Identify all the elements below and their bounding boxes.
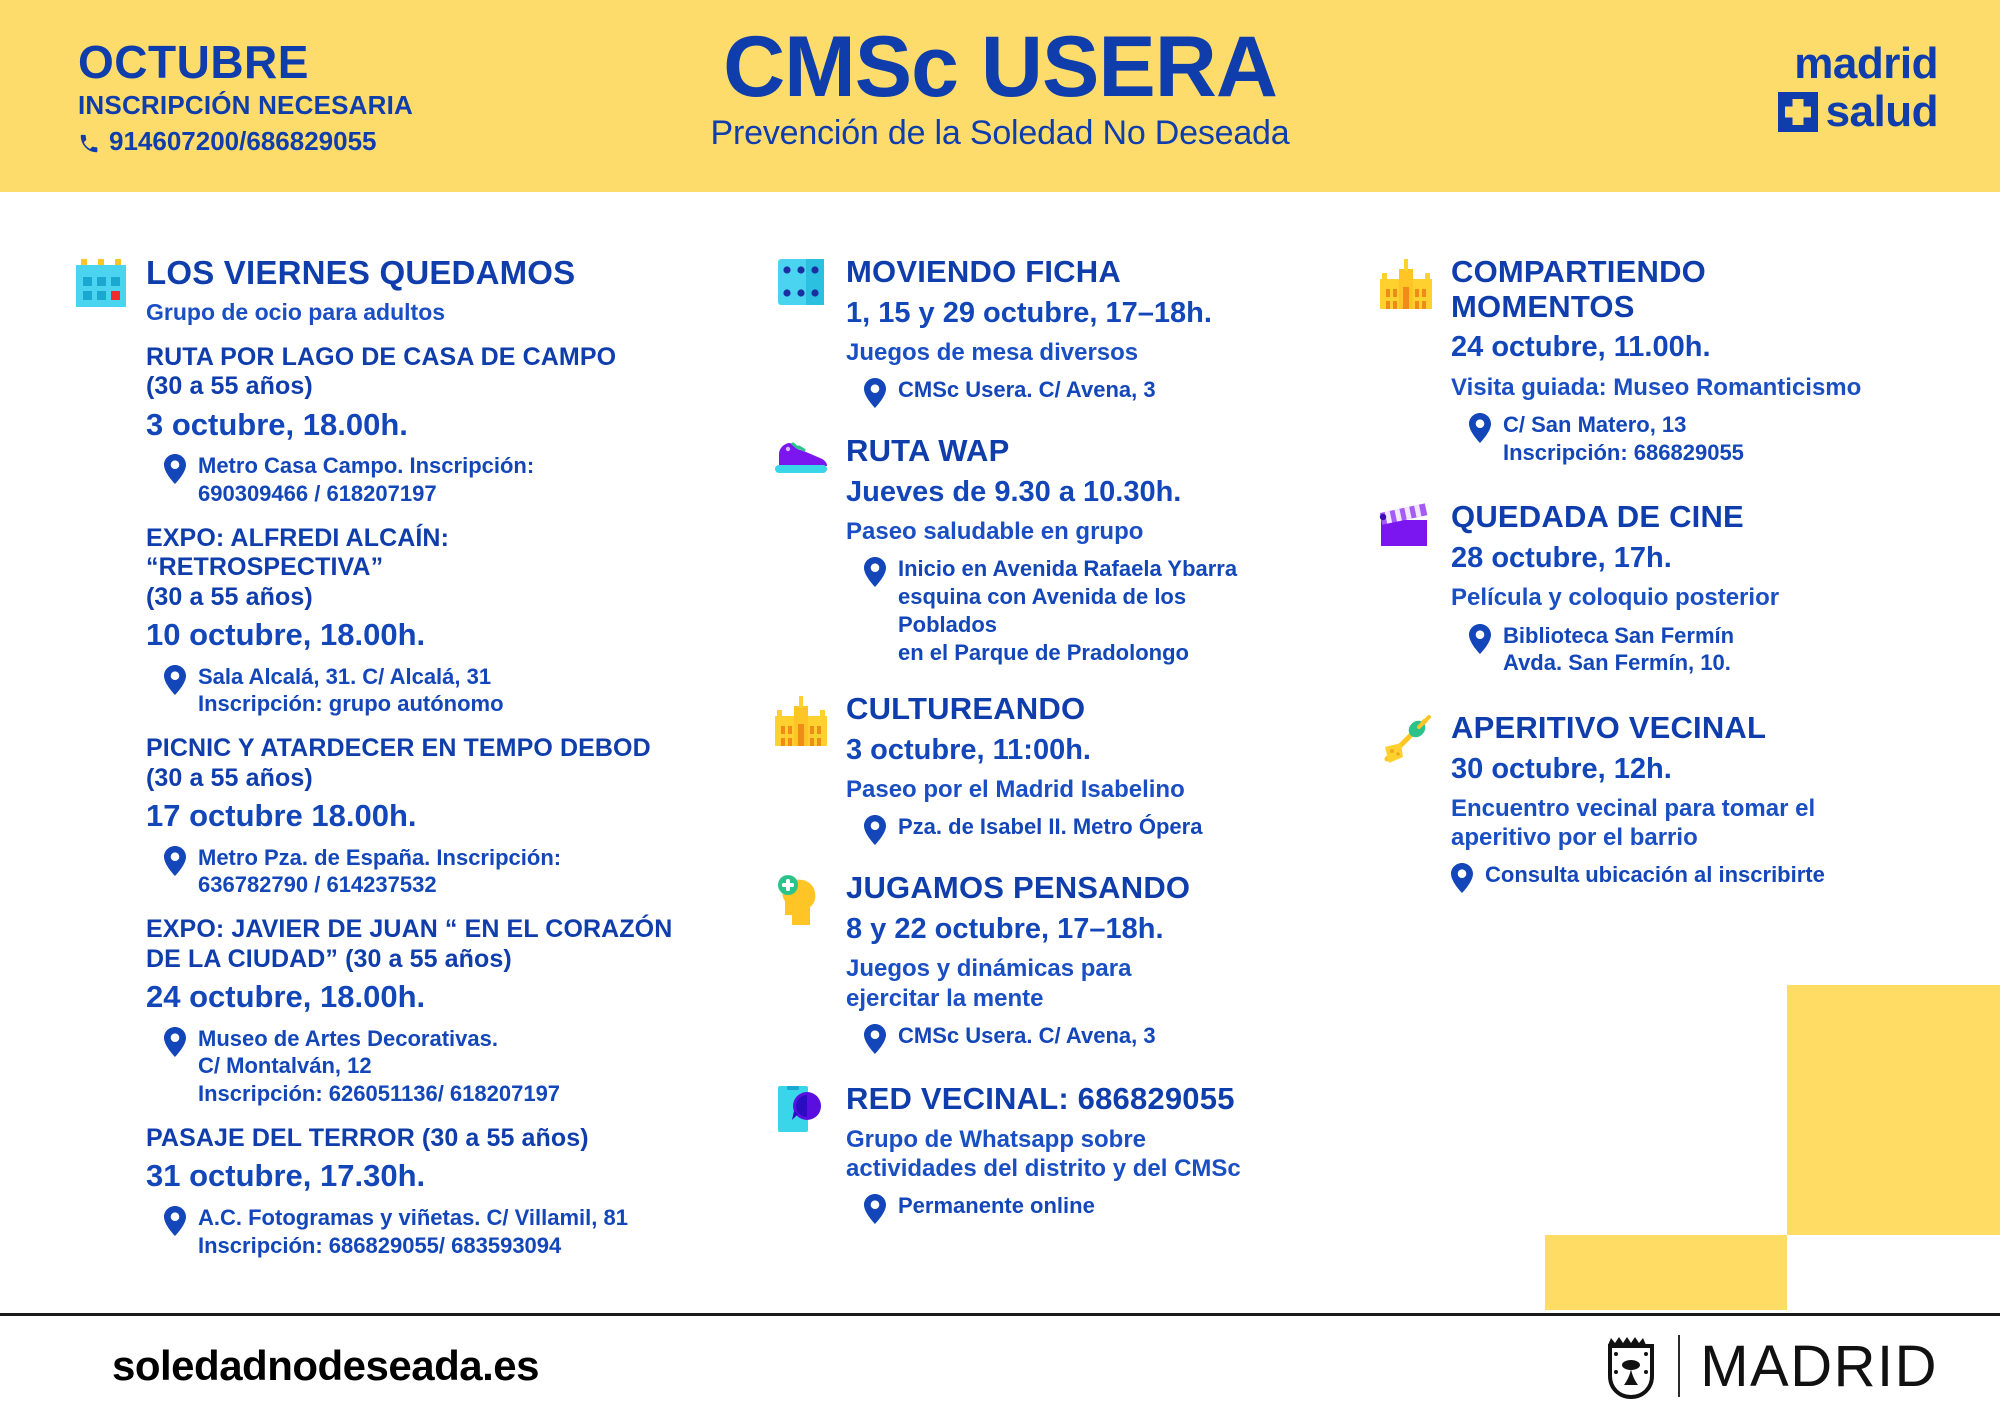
location-pin-icon <box>864 815 886 845</box>
location-pin-icon <box>864 378 886 408</box>
activity-block-cultureando: CULTUREANDO 3 octubre, 11:00h. Paseo por… <box>770 692 1280 845</box>
sneaker-icon <box>770 434 832 490</box>
madrid-salud-logo: madrid salud <box>1778 42 1938 134</box>
activity-location: CMSc Usera. C/ Avena, 3 <box>864 376 1280 408</box>
activity-title: APERITIVO VECINAL <box>1451 711 1915 746</box>
location-text: CMSc Usera. C/ Avena, 3 <box>898 376 1156 404</box>
activity-when: 24 octubre, 11.00h. <box>1451 330 1915 364</box>
location-pin-icon <box>1451 863 1473 893</box>
health-cross-icon <box>1778 92 1818 132</box>
session-name: EXPO: ALFREDI ALCAÍN: “RETROSPECTIVA” (3… <box>146 524 690 613</box>
header-month: OCTUBRE <box>78 38 413 86</box>
session-name: EXPO: JAVIER DE JUAN “ EN EL CORAZÓN DE … <box>146 915 690 974</box>
location-text: Inicio en Avenida Rafaela Ybarra esquina… <box>898 555 1280 666</box>
session-item: PICNIC Y ATARDECER EN TEMPO DEBOD (30 a … <box>146 734 690 899</box>
activity-title: MOVIENDO FICHA <box>846 255 1280 290</box>
activity-title: JUGAMOS PENSANDO <box>846 871 1280 906</box>
activity-desc: Paseo saludable en grupo <box>846 517 1280 546</box>
activity-location: C/ San Matero, 13 Inscripción: 686829055 <box>1469 411 1915 466</box>
poster-header: OCTUBRE INSCRIPCIÓN NECESARIA 914607200/… <box>0 0 2000 192</box>
location-pin-icon <box>864 1024 886 1054</box>
session-when: 17 octubre 18.00h. <box>146 798 690 835</box>
activity-block-compartiendo-momentos: COMPARTIENDO MOMENTOS 24 octubre, 11.00h… <box>1375 255 1915 466</box>
column-2: MOVIENDO FICHA 1, 15 y 29 octubre, 17–18… <box>770 255 1280 1234</box>
activity-block-ruta-wap: RUTA WAP Jueves de 9.30 a 10.30h. Paseo … <box>770 434 1280 666</box>
activity-location: Biblioteca San Fermín Avda. San Fermín, … <box>1469 622 1915 677</box>
location-text: A.C. Fotogramas y viñetas. C/ Villamil, … <box>198 1204 628 1259</box>
activity-when: 3 octubre, 11:00h. <box>846 733 1280 767</box>
activity-title: RUTA WAP <box>846 434 1280 469</box>
activity-title: QUEDADA DE CINE <box>1451 500 1915 535</box>
skewer-icon <box>1375 711 1437 767</box>
activity-title: RED VECINAL: 686829055 <box>846 1082 1280 1117</box>
activity-when: 1, 15 y 29 octubre, 17–18h. <box>846 296 1280 330</box>
activity-block-moviendo-ficha: MOVIENDO FICHA 1, 15 y 29 octubre, 17–18… <box>770 255 1280 408</box>
poster-tagline: Prevención de la Soledad No Deseada <box>550 114 1450 153</box>
activity-location: Permanente online <box>864 1192 1280 1224</box>
session-item: EXPO: JAVIER DE JUAN “ EN EL CORAZÓN DE … <box>146 915 690 1108</box>
session-location: A.C. Fotogramas y viñetas. C/ Villamil, … <box>164 1204 690 1259</box>
brain-head-icon <box>770 871 832 927</box>
clapperboard-icon <box>1375 500 1437 556</box>
activity-location: Consulta ubicación al inscribirte <box>1451 861 1915 893</box>
location-text: Consulta ubicación al inscribirte <box>1485 861 1825 889</box>
dice-icon <box>770 255 832 311</box>
activity-desc: Juegos de mesa diversos <box>846 338 1280 367</box>
location-pin-icon <box>164 454 186 484</box>
location-pin-icon <box>864 557 886 587</box>
logo-divider <box>1678 1335 1680 1397</box>
activity-block-los-viernes-quedamos: LOS VIERNES QUEDAMOS Grupo de ocio para … <box>70 255 690 1259</box>
header-center: CMSc USERA Prevención de la Soledad No D… <box>550 24 1450 153</box>
activity-when: 30 octubre, 12h. <box>1451 752 1915 786</box>
activity-location: Inicio en Avenida Rafaela Ybarra esquina… <box>864 555 1280 666</box>
activity-desc: Visita guiada: Museo Romanticismo <box>1451 373 1915 402</box>
activity-desc: Encuentro vecinal para tomar el aperitiv… <box>1451 794 1915 853</box>
madrid-salud-salud-text: salud <box>1826 90 1938 134</box>
museum-icon <box>1375 255 1437 311</box>
session-location: Sala Alcalá, 31. C/ Alcalá, 31 Inscripci… <box>164 663 690 718</box>
activity-desc: Grupo de Whatsapp sobre actividades del … <box>846 1125 1280 1184</box>
location-text: Sala Alcalá, 31. C/ Alcalá, 31 Inscripci… <box>198 663 504 718</box>
session-item: EXPO: ALFREDI ALCAÍN: “RETROSPECTIVA” (3… <box>146 524 690 719</box>
activity-subtitle: Grupo de ocio para adultos <box>146 299 690 327</box>
location-text: Metro Pza. de España. Inscripción: 63678… <box>198 844 561 899</box>
location-text: CMSc Usera. C/ Avena, 3 <box>898 1022 1156 1050</box>
session-when: 10 octubre, 18.00h. <box>146 617 690 654</box>
activity-desc: Paseo por el Madrid Isabelino <box>846 775 1280 804</box>
activity-desc: Juegos y dinámicas para ejercitar la men… <box>846 954 1280 1013</box>
activity-location: Pza. de Isabel II. Metro Ópera <box>864 813 1280 845</box>
header-phone-number: 914607200/686829055 <box>109 126 377 157</box>
activity-when: 28 octubre, 17h. <box>1451 541 1915 575</box>
activity-block-jugamos-pensando: JUGAMOS PENSANDO 8 y 22 octubre, 17–18h.… <box>770 871 1280 1053</box>
footer-divider <box>0 1313 2000 1316</box>
footer-madrid-text: MADRID <box>1700 1333 1938 1400</box>
session-name: PICNIC Y ATARDECER EN TEMPO DEBOD (30 a … <box>146 734 690 793</box>
session-when: 24 octubre, 18.00h. <box>146 979 690 1016</box>
header-left-info: OCTUBRE INSCRIPCIÓN NECESARIA 914607200/… <box>78 38 413 157</box>
session-location: Metro Pza. de España. Inscripción: 63678… <box>164 844 690 899</box>
column-3: COMPARTIENDO MOMENTOS 24 octubre, 11.00h… <box>1375 255 1915 903</box>
activity-block-aperitivo-vecinal: APERITIVO VECINAL 30 octubre, 12h. Encue… <box>1375 711 1915 893</box>
header-phone: 914607200/686829055 <box>78 126 413 157</box>
activity-title: COMPARTIENDO MOMENTOS <box>1451 255 1915 324</box>
poster-title: CMSc USERA <box>550 24 1450 110</box>
session-item: PASAJE DEL TERROR (30 a 55 años) 31 octu… <box>146 1124 690 1260</box>
session-when: 3 octubre, 18.00h. <box>146 407 690 444</box>
phone-icon <box>78 131 100 153</box>
activity-when: 8 y 22 octubre, 17–18h. <box>846 912 1280 946</box>
activity-location: CMSc Usera. C/ Avena, 3 <box>864 1022 1280 1054</box>
location-pin-icon <box>1469 413 1491 443</box>
activity-block-red-vecinal: RED VECINAL: 686829055 Grupo de Whatsapp… <box>770 1082 1280 1224</box>
location-text: Biblioteca San Fermín Avda. San Fermín, … <box>1503 622 1734 677</box>
session-name: RUTA POR LAGO DE CASA DE CAMPO (30 a 55 … <box>146 343 690 402</box>
header-registration-note: INSCRIPCIÓN NECESARIA <box>78 90 413 121</box>
location-pin-icon <box>164 665 186 695</box>
location-pin-icon <box>1469 624 1491 654</box>
madrid-salud-madrid-text: madrid <box>1778 42 1938 86</box>
location-text: C/ San Matero, 13 Inscripción: 686829055 <box>1503 411 1744 466</box>
session-item: RUTA POR LAGO DE CASA DE CAMPO (30 a 55 … <box>146 343 690 508</box>
activity-title: LOS VIERNES QUEDAMOS <box>146 255 690 292</box>
session-when: 31 octubre, 17.30h. <box>146 1158 690 1195</box>
activity-when: Jueves de 9.30 a 10.30h. <box>846 475 1280 509</box>
location-text: Permanente online <box>898 1192 1095 1220</box>
footer-website-url[interactable]: soledadnodeseada.es <box>112 1342 539 1390</box>
museum-icon <box>770 692 832 748</box>
activity-desc: Película y coloquio posterior <box>1451 583 1915 612</box>
column-1: LOS VIERNES QUEDAMOS Grupo de ocio para … <box>70 255 690 1269</box>
decor-square-large <box>1787 985 2000 1235</box>
calendar-icon <box>70 255 132 311</box>
location-text: Museo de Artes Decorativas. C/ Montalván… <box>198 1025 560 1108</box>
location-text: Metro Casa Campo. Inscripción: 690309466… <box>198 452 534 507</box>
location-text: Pza. de Isabel II. Metro Ópera <box>898 813 1202 841</box>
poster-root: OCTUBRE INSCRIPCIÓN NECESARIA 914607200/… <box>0 0 2000 1414</box>
madrid-crest-icon <box>1604 1332 1658 1400</box>
session-name: PASAJE DEL TERROR (30 a 55 años) <box>146 1124 690 1154</box>
chat-phone-icon <box>770 1082 832 1138</box>
activity-block-quedada-de-cine: QUEDADA DE CINE 28 octubre, 17h. Películ… <box>1375 500 1915 677</box>
location-pin-icon <box>164 1027 186 1057</box>
session-location: Museo de Artes Decorativas. C/ Montalván… <box>164 1025 690 1108</box>
session-location: Metro Casa Campo. Inscripción: 690309466… <box>164 452 690 507</box>
location-pin-icon <box>864 1194 886 1224</box>
madrid-city-logo: MADRID <box>1604 1332 1938 1400</box>
activity-title: CULTUREANDO <box>846 692 1280 727</box>
location-pin-icon <box>164 1206 186 1236</box>
decor-square-small <box>1545 1235 1787 1310</box>
location-pin-icon <box>164 846 186 876</box>
